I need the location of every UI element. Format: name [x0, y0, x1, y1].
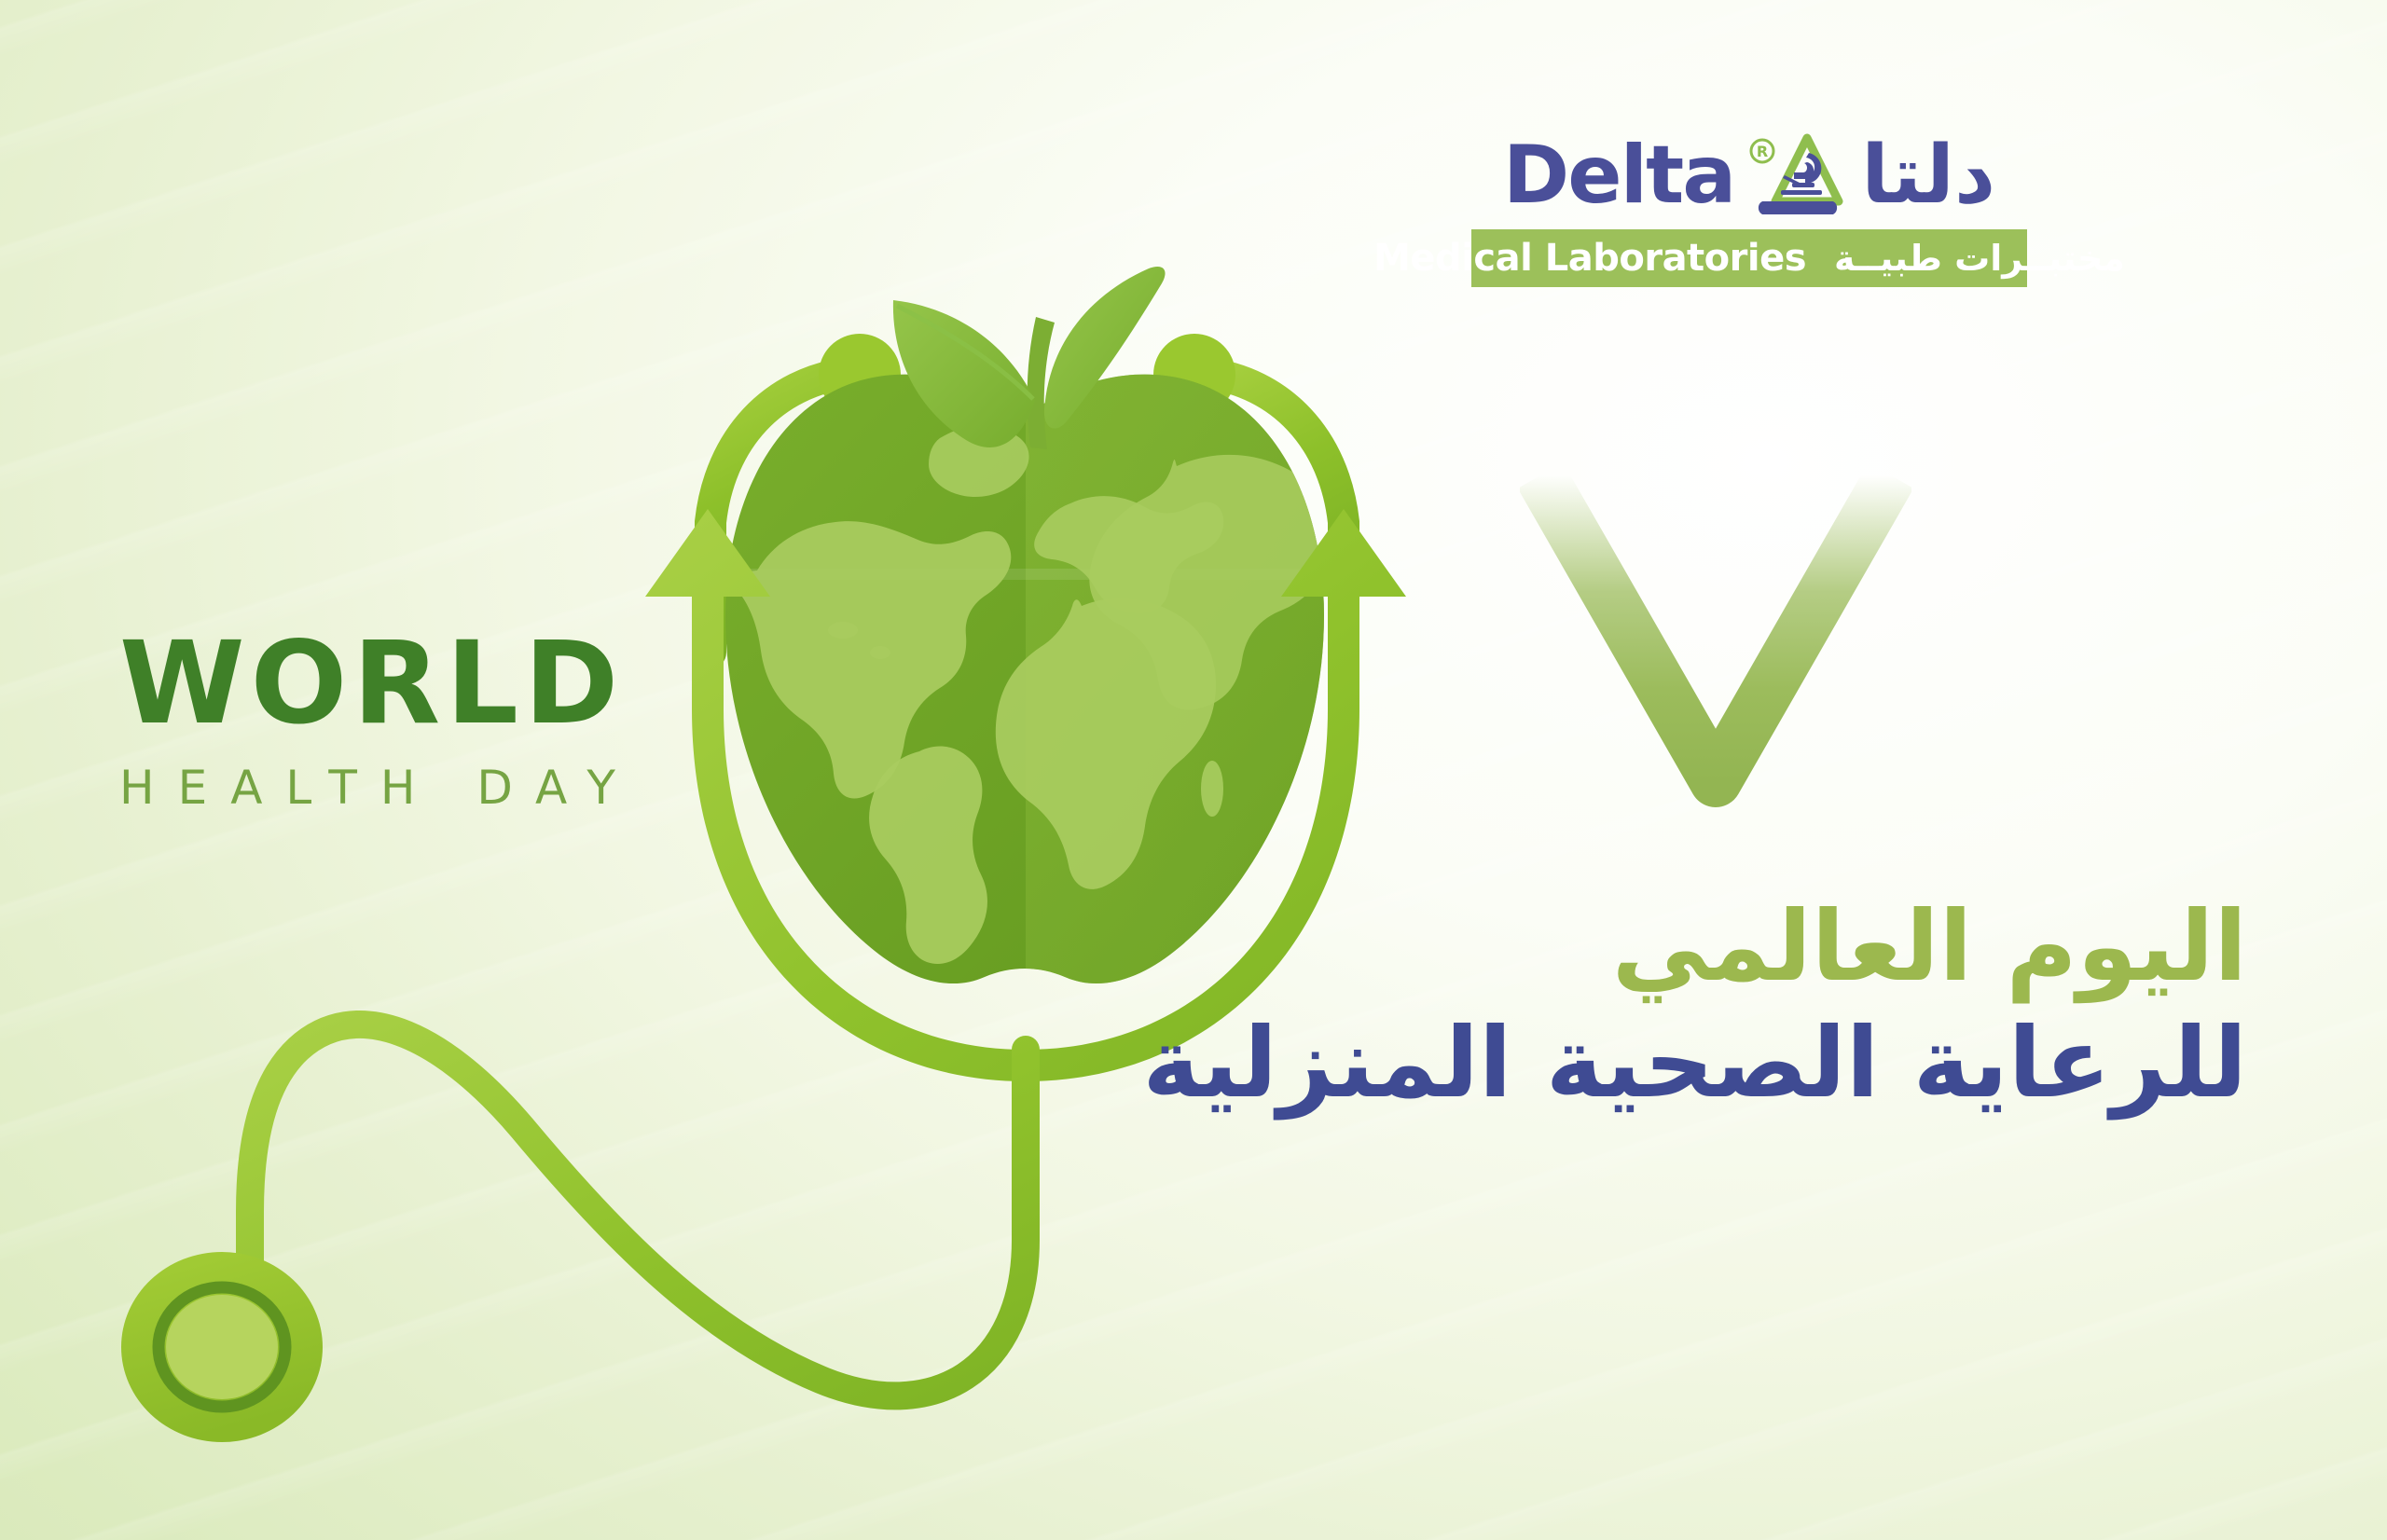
- delta-tagline-en: Medical Laboratories: [1373, 237, 1806, 280]
- svg-text:R: R: [1757, 143, 1768, 160]
- delta-brand-en: Delta: [1503, 135, 1734, 215]
- headline-line-2: للرعاية الصحية المنزلية: [1142, 1007, 2247, 1120]
- world-health-day-wordmark: WORLD HEALTH DAY: [119, 626, 716, 811]
- delta-brand-ar: دلتا: [1861, 135, 1995, 215]
- microscope-in-delta-triangle-icon: R: [1749, 131, 1846, 220]
- delta-tagline-ar: مختبــرات طبيــة: [1834, 238, 2125, 279]
- headline-line-1: اليوم العالمي: [1142, 890, 2247, 1003]
- delta-tagline-bar: Medical Laboratories مختبــرات طبيــة: [1471, 229, 2027, 287]
- headline: اليوم العالمي للرعاية الصحية المنزلية: [1142, 890, 2247, 1119]
- poster-canvas: WORLD HEALTH DAY Delta R: [0, 0, 2387, 1540]
- delta-logo-top-row: Delta R دلتا: [1471, 131, 2027, 220]
- wordmark-line-health-day: HEALTH DAY: [119, 764, 716, 811]
- delta-logo: Delta R دلتا: [1471, 131, 2027, 287]
- wordmark-line-world: WORLD: [119, 626, 716, 740]
- v-check-icon: [1520, 457, 1911, 830]
